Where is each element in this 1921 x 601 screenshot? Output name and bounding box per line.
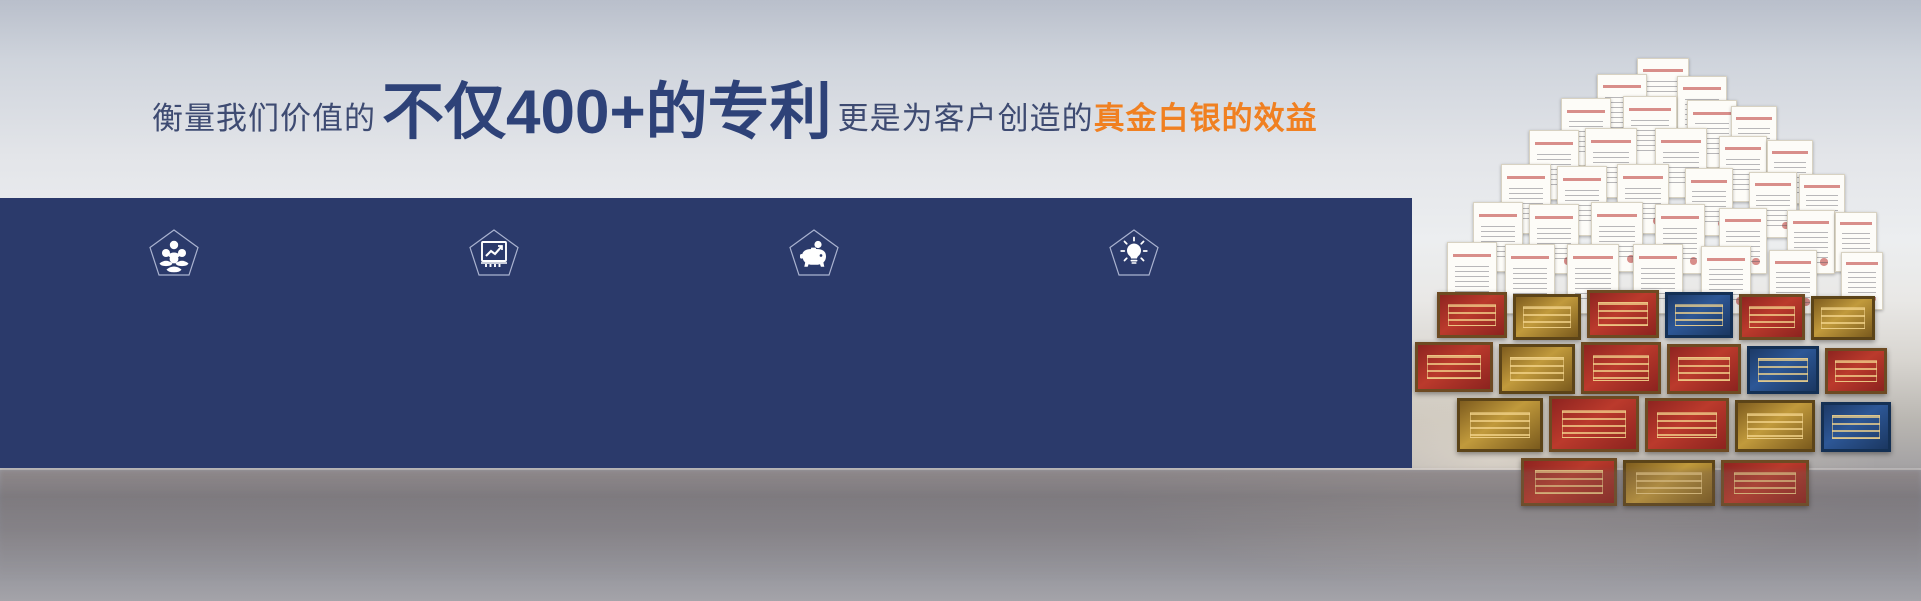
feature-item [148,226,412,446]
feature-item [788,226,1052,446]
headline-highlight: 真金白银的效益 [1094,93,1318,138]
award-plaque [1747,346,1819,394]
award-plaque [1499,344,1575,394]
lightbulb-energy-icon [1108,228,1160,280]
feature-header [1108,226,1372,280]
features-row [0,198,1412,468]
page-title: 衡量我们价值的 不仅400+的专利 更是为客户创造的 真金白银的效益 [152,78,1318,140]
award-plaque [1825,348,1887,394]
award-plaque [1587,290,1659,338]
feature-item [1108,226,1372,446]
award-plaque [1739,294,1805,340]
feature-header [148,226,412,280]
piggy-bank-icon [788,228,840,280]
certificate-wall [1401,44,1921,484]
award-plaque [1721,460,1809,506]
feature-header [788,226,1052,280]
headline-prefix: 衡量我们价值的 [152,93,376,138]
people-group-icon [148,228,200,280]
certificate-seal [1690,257,1698,265]
award-plaque [1821,402,1891,452]
certificate-seal [1820,258,1827,265]
feature-item [468,226,732,446]
award-plaque [1623,460,1715,506]
award-plaque [1521,458,1617,506]
certificate-seal [1752,258,1759,265]
feature-header [468,226,732,280]
award-plaque [1437,292,1507,338]
headline-middle: 更是为客户创造的 [838,93,1094,138]
growth-chart-icon [468,228,520,280]
award-plaque [1645,398,1729,452]
headline-emphasis: 不仅400+的专利 [382,82,832,144]
award-plaque [1667,344,1741,394]
banner-stage: 衡量我们价值的 不仅400+的专利 更是为客户创造的 真金白银的效益 [0,0,1921,601]
award-plaque [1811,296,1875,340]
award-plaque [1665,292,1733,338]
award-plaque [1415,342,1493,392]
award-plaque [1513,294,1581,340]
award-plaque [1457,398,1543,452]
award-plaque [1581,342,1661,394]
award-plaque [1735,400,1815,452]
award-plaque [1549,396,1639,452]
features-panel [0,198,1412,468]
